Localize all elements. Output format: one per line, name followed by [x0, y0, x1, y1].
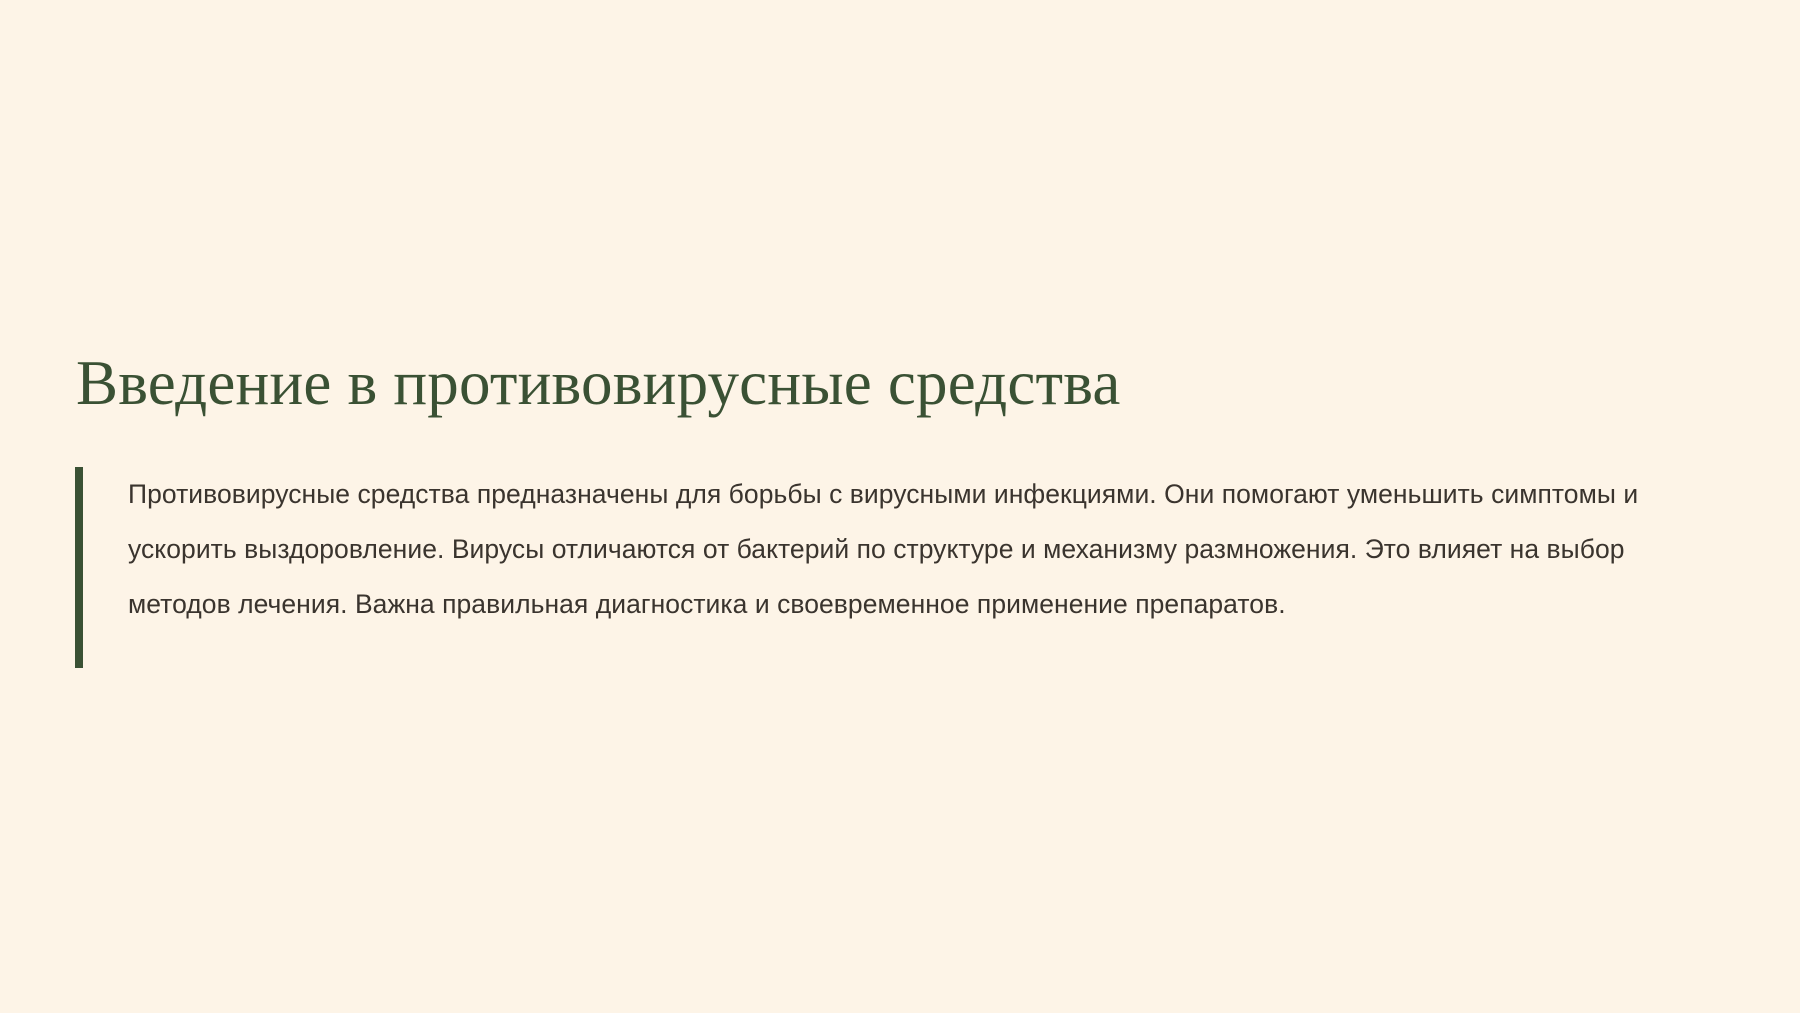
- callout-block: Противовирусные средства предназначены д…: [75, 467, 1735, 668]
- slide-canvas: Введение в противовирусные средства Прот…: [0, 0, 1800, 1013]
- body-text-container: Противовирусные средства предназначены д…: [83, 467, 1735, 668]
- body-paragraph: Противовирусные средства предназначены д…: [128, 467, 1713, 632]
- accent-bar: [75, 467, 83, 668]
- page-title: Введение в противовирусные средства: [76, 352, 1716, 415]
